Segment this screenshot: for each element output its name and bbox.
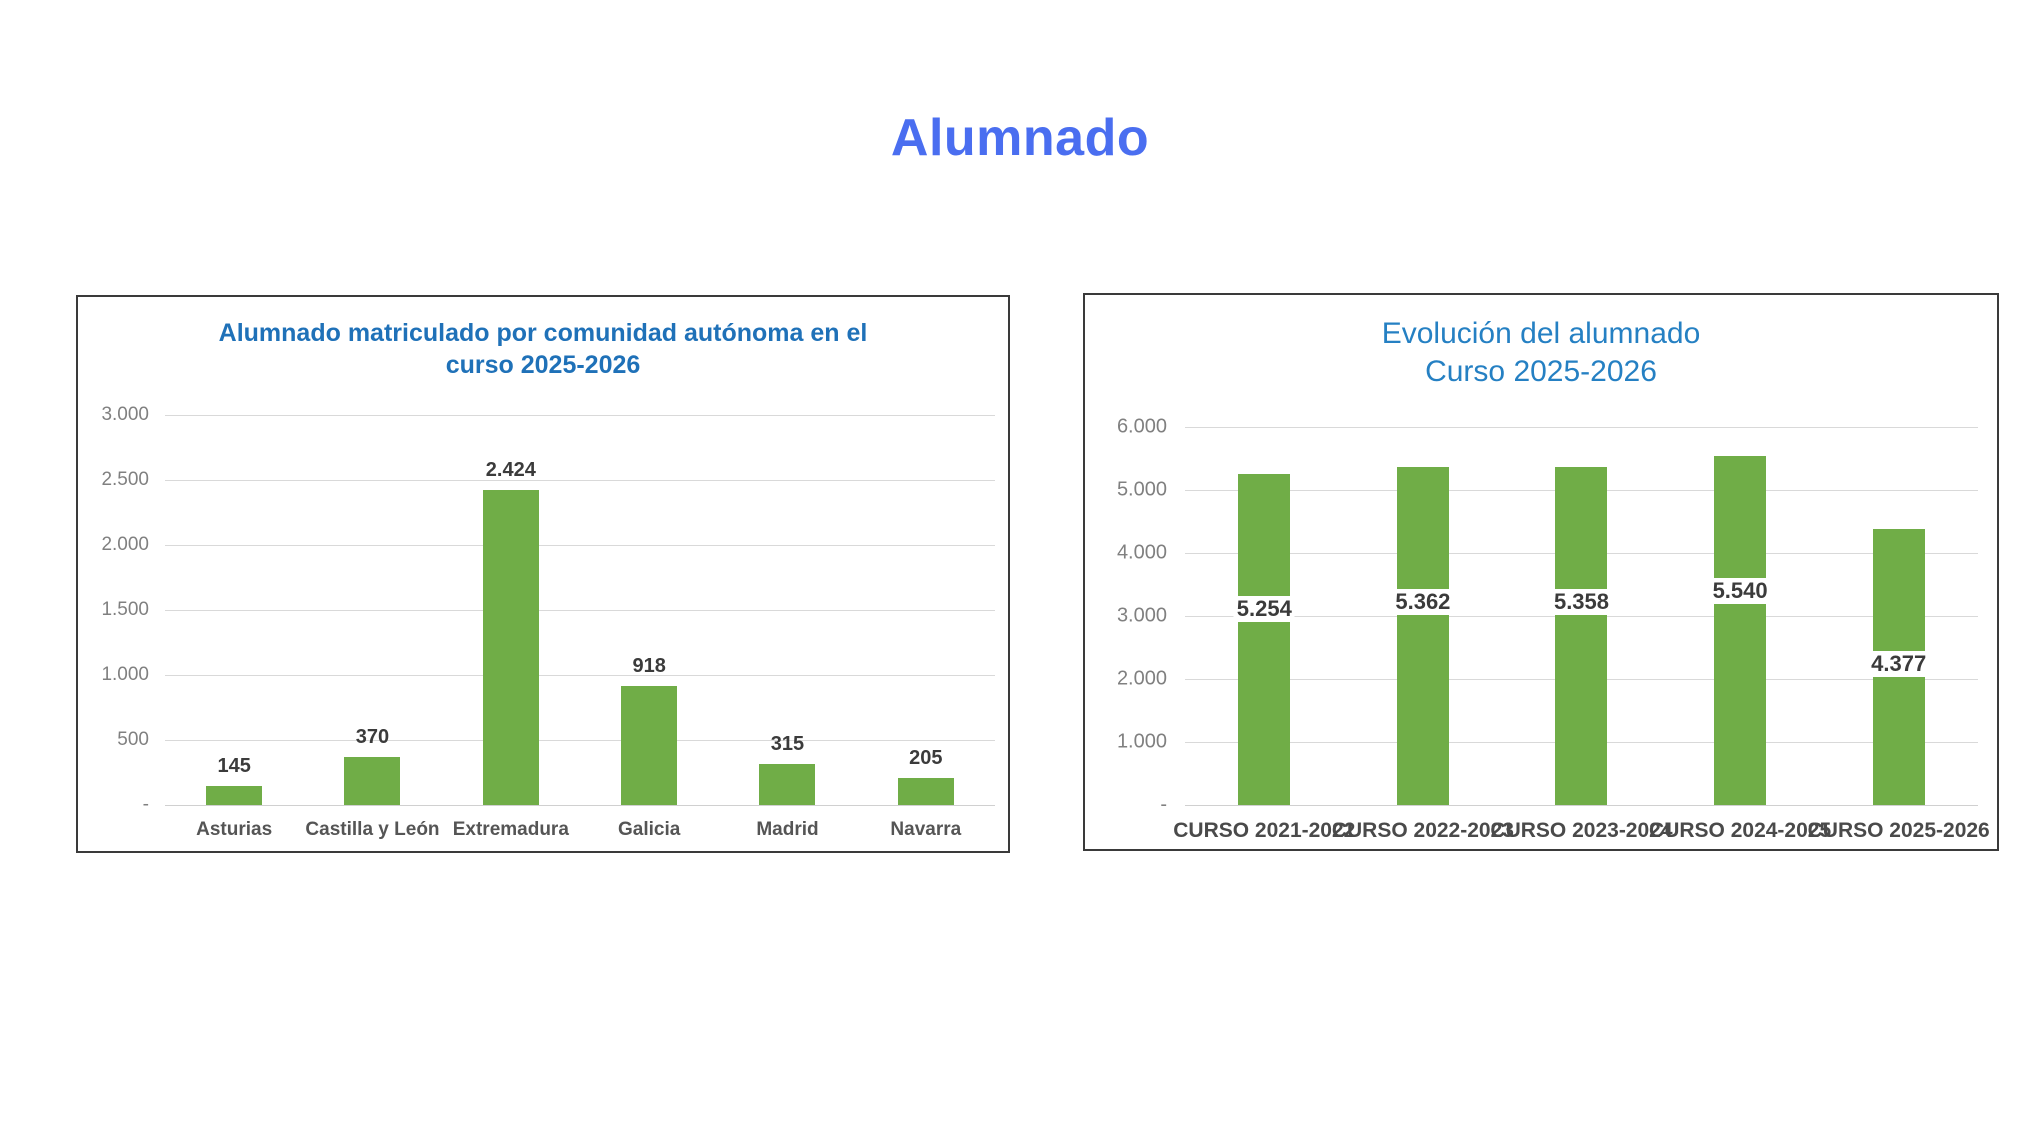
y-axis-tick-label: - [1160,794,1167,817]
bar-value-label: 5.540 [1710,578,1771,604]
chart-title-right-line2: Curso 2025-2026 [1425,355,1657,388]
bar-value-label: 918 [632,655,665,678]
y-axis-tick-label: 4.000 [1117,542,1167,565]
bar-value-label: 4.377 [1868,651,1929,677]
y-axis-tick-label: 6.000 [1117,416,1167,439]
y-axis-tick-label: 1.000 [101,664,149,686]
bar-group[interactable]: 315Madrid [718,415,856,805]
bar-group[interactable]: 145Asturias [165,415,303,805]
bar[interactable] [759,764,815,805]
bar[interactable] [1555,467,1607,805]
page-title: Alumnado [0,108,2040,168]
bar-value-label: 2.424 [486,459,536,482]
x-axis-category-label: Madrid [756,819,818,841]
bar-value-label: 145 [217,755,250,778]
y-axis-tick-label: 2.000 [1117,668,1167,691]
bar[interactable] [344,757,400,805]
y-axis-tick-label: 5.000 [1117,479,1167,502]
bar-value-label: 5.362 [1392,589,1453,615]
bar-group[interactable]: 5.254CURSO 2021-2022 [1185,427,1344,805]
gridline [165,805,995,806]
bar-value-label: 315 [771,733,804,756]
chart-panel-alumnado-por-comunidad: Alumnado matriculado por comunidad autón… [76,295,1010,853]
chart-title-left: Alumnado matriculado por comunidad autón… [78,317,1008,381]
y-axis-tick-label: 3.000 [1117,605,1167,628]
x-axis-category-label: Galicia [618,819,680,841]
bars-layer: 145Asturias370Castilla y León2.424Extrem… [165,415,995,805]
plot-area-left: 3.0002.5002.0001.5001.000500-145Asturias… [165,415,995,805]
y-axis-tick-label: - [143,794,149,816]
bar-group[interactable]: 370Castilla y León [303,415,441,805]
bar[interactable] [483,490,539,805]
x-axis-category-label: CURSO 2024-2025 [1649,819,1831,843]
bar-group[interactable]: 918Galicia [580,415,718,805]
bar-group[interactable]: 5.362CURSO 2022-2023 [1344,427,1503,805]
x-axis-category-label: CURSO 2023-2024 [1490,819,1672,843]
bar-group[interactable]: 205Navarra [857,415,995,805]
bar[interactable] [1238,474,1290,805]
y-axis-tick-label: 1.500 [101,599,149,621]
bar-value-label: 205 [909,747,942,770]
gridline [1185,805,1978,806]
x-axis-category-label: Navarra [890,819,961,841]
x-axis-category-label: CURSO 2021-2022 [1173,819,1355,843]
chart-title-right: Evolución del alumnado Curso 2025-2026 [1085,315,1997,392]
bar-group[interactable]: 2.424Extremadura [442,415,580,805]
chart-title-right-line1: Evolución del alumnado [1382,317,1701,350]
bar-value-label: 5.358 [1551,589,1612,615]
chart-title-left-line2: curso 2025-2026 [446,351,641,379]
x-axis-category-label: Castilla y León [305,819,439,841]
x-axis-category-label: Extremadura [453,819,569,841]
chart-title-left-line1: Alumnado matriculado por comunidad autón… [219,319,868,347]
bar-value-label: 370 [356,726,389,749]
plot-area-right: 6.0005.0004.0003.0002.0001.000-5.254CURS… [1185,427,1978,805]
x-axis-category-label: CURSO 2022-2023 [1332,819,1514,843]
bar-value-label: 5.254 [1234,596,1295,622]
y-axis-tick-label: 1.000 [1117,731,1167,754]
chart-panel-evolucion-alumnado: Evolución del alumnado Curso 2025-2026 6… [1083,293,1999,851]
y-axis-tick-label: 2.500 [101,469,149,491]
x-axis-category-label: Asturias [196,819,272,841]
y-axis-tick-label: 3.000 [101,404,149,426]
bar-group[interactable]: 5.358CURSO 2023-2024 [1502,427,1661,805]
bar[interactable] [898,778,954,805]
bar[interactable] [1714,456,1766,805]
bar-group[interactable]: 4.377CURSO 2025-2026 [1819,427,1978,805]
bar[interactable] [621,686,677,805]
x-axis-category-label: CURSO 2025-2026 [1808,819,1990,843]
y-axis-tick-label: 2.000 [101,534,149,556]
bar-group[interactable]: 5.540CURSO 2024-2025 [1661,427,1820,805]
y-axis-tick-label: 500 [117,729,149,751]
bar[interactable] [206,786,262,805]
bars-layer: 5.254CURSO 2021-20225.362CURSO 2022-2023… [1185,427,1978,805]
bar[interactable] [1397,467,1449,805]
